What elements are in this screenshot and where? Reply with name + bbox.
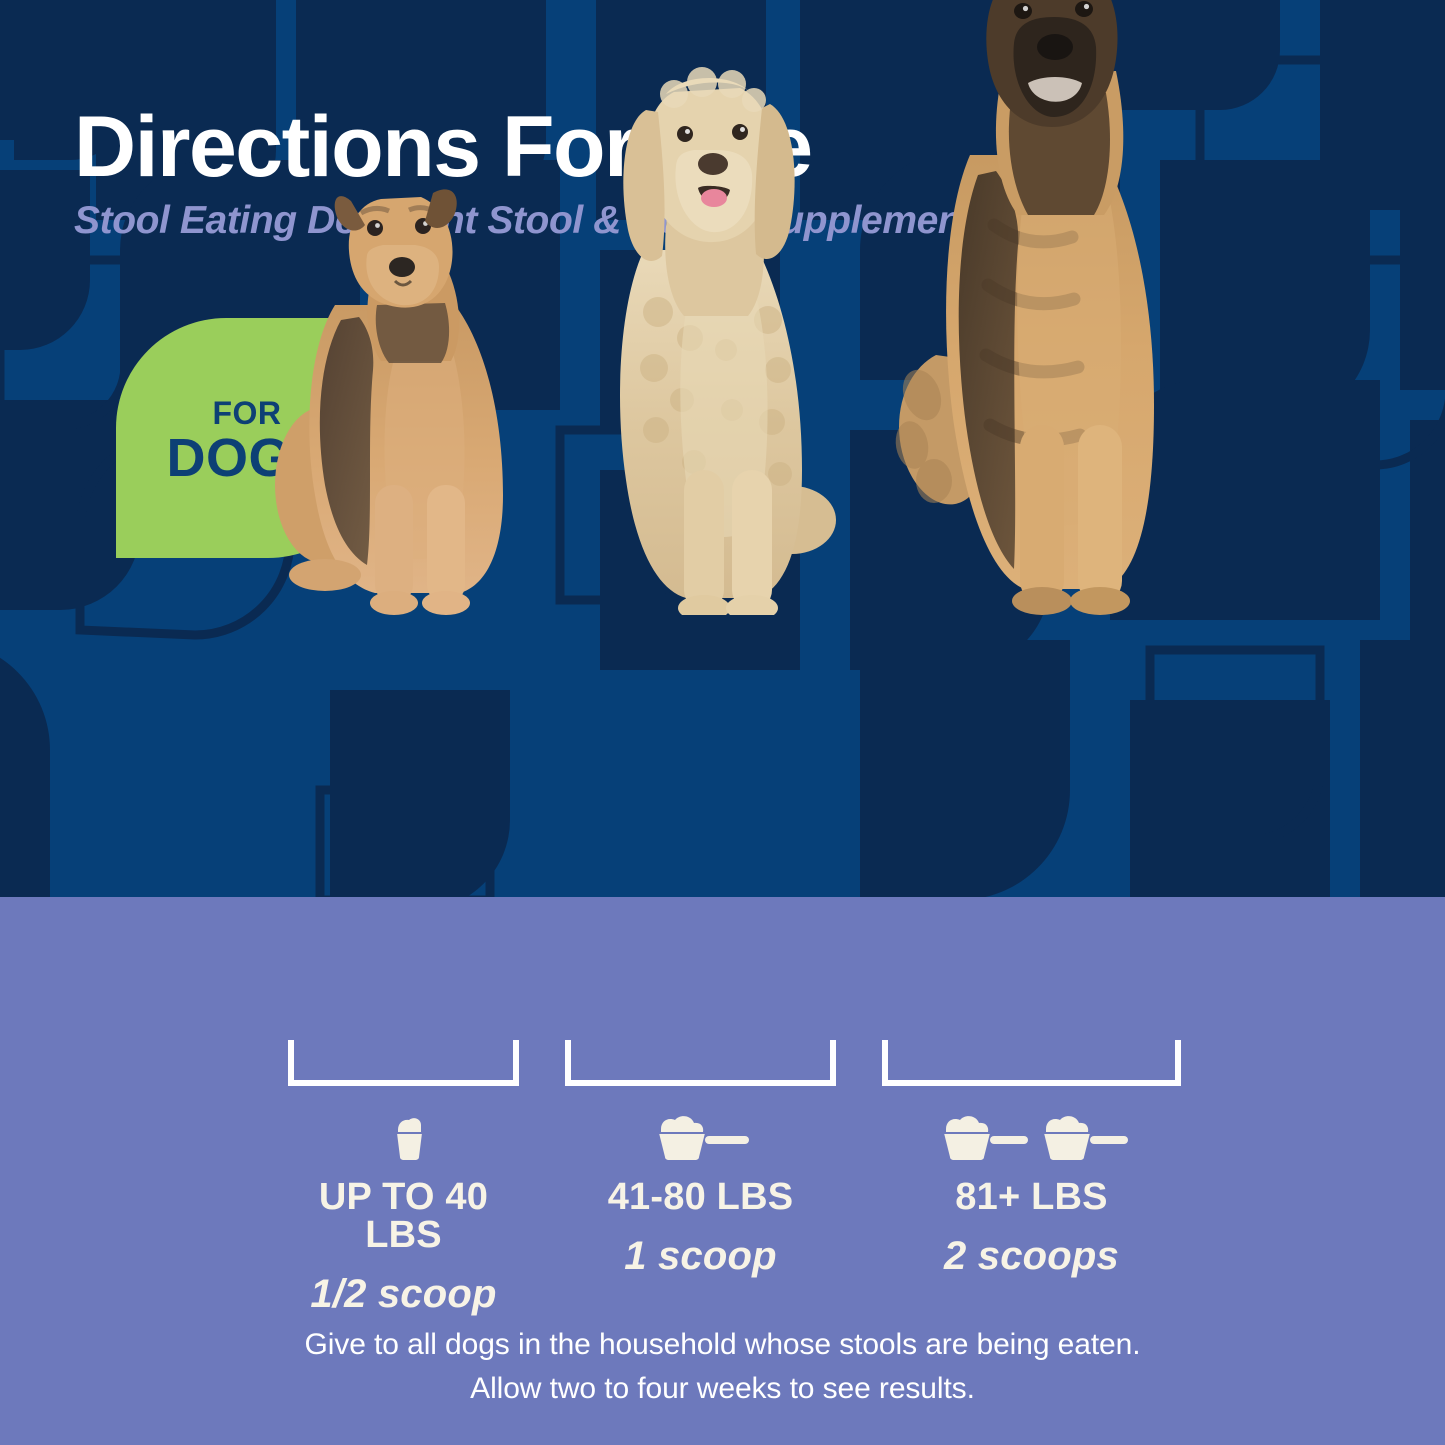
half-scoop-icon [288,1108,519,1164]
dosage-weight-1: UP TO 40 LBS [288,1178,519,1254]
size-bracket-2 [565,1040,836,1086]
dog-photos-group [0,0,1445,1060]
dosage-weight-3: 81+ LBS [882,1178,1181,1216]
dosage-column-2: 41-80 LBS 1 scoop [565,1040,836,1276]
dosage-amount-2: 1 scoop [565,1236,836,1276]
dosage-column-1: UP TO 40 LBS 1/2 scoop [288,1040,519,1314]
dosage-amount-1: 1/2 scoop [288,1274,519,1314]
dosage-row: UP TO 40 LBS 1/2 scoop 41-80 LBS 1 scoo [0,1040,1445,1290]
two-scoops-icon [882,1108,1181,1164]
footer-line-1: Give to all dogs in the household whose … [0,1323,1445,1367]
one-scoop-icon [565,1108,836,1164]
footer-instructions: Give to all dogs in the household whose … [0,1323,1445,1410]
size-bracket-1 [288,1040,519,1086]
directions-for-use-panel: Directions For Use Stool Eating Deterren… [0,0,1445,1445]
dosage-amount-3: 2 scoops [882,1236,1181,1276]
footer-line-2: Allow two to four weeks to see results. [0,1367,1445,1411]
dog-goldendoodle [562,50,852,615]
dosage-weight-2: 41-80 LBS [565,1178,836,1216]
dog-airedale-terrier [255,155,545,615]
dosage-column-3: 81+ LBS 2 scoops [882,1040,1181,1276]
size-bracket-3 [882,1040,1181,1086]
dog-german-shepherd [878,0,1198,615]
